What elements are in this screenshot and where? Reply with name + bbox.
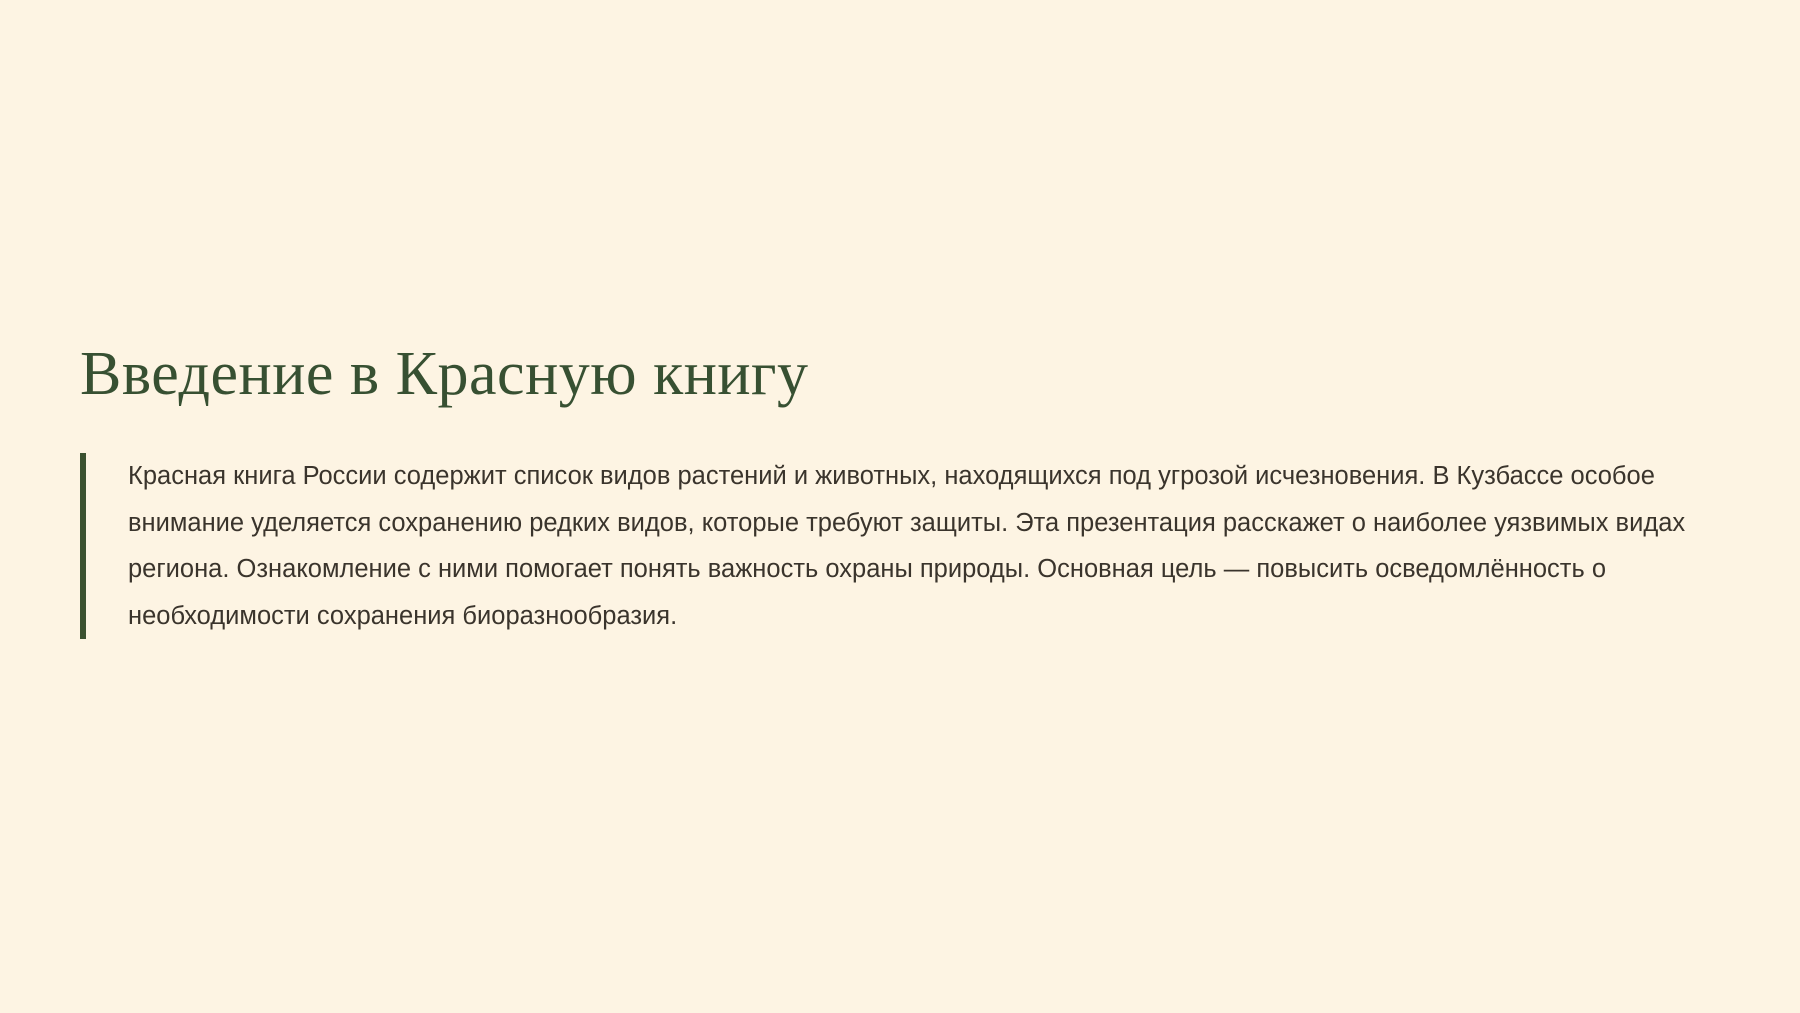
body-block: Красная книга России содержит список вид… — [80, 453, 1720, 639]
page-title: Введение в Красную книгу — [80, 340, 1720, 409]
accent-bar — [80, 453, 86, 639]
slide-content: Введение в Красную книгу Красная книга Р… — [80, 340, 1720, 639]
body-paragraph: Красная книга России содержит список вид… — [128, 453, 1718, 639]
presentation-slide: Введение в Красную книгу Красная книга Р… — [0, 0, 1800, 1013]
